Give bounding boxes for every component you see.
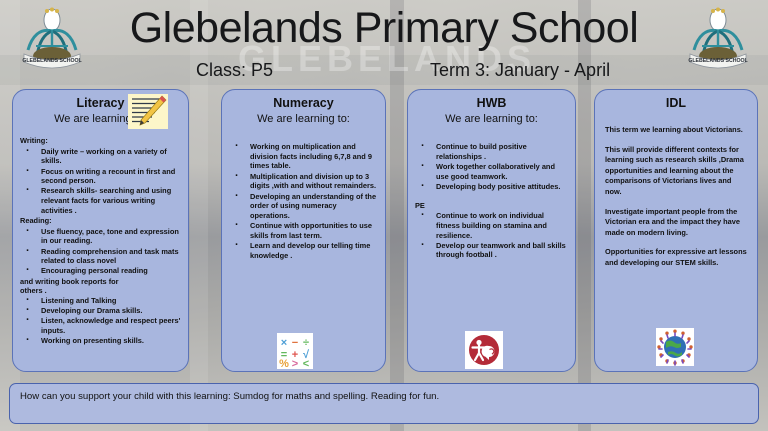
list-item: Multiplication and division up to 3 digi… — [229, 172, 378, 191]
list-item: Working on presenting skills. — [20, 336, 181, 346]
term-label: Term 3: January - April — [430, 60, 610, 81]
page-title: Glebelands Primary School — [0, 2, 768, 54]
list-item: Continue with opportunities to use skill… — [229, 221, 378, 240]
svg-text:>: > — [292, 358, 298, 369]
literacy-writing-list: Daily write – working on a variety of sk… — [20, 147, 181, 216]
list-item: Focus on writing a recount in first and … — [20, 167, 181, 186]
hwb-pe-heading: PE — [415, 201, 568, 211]
list-item: Listening and Talking — [20, 296, 181, 306]
literacy-reading-heading: Reading: — [20, 216, 181, 226]
support-footer-text: How can you support your child with this… — [20, 390, 748, 403]
list-item: Develop our teamwork and ball skills thr… — [415, 241, 568, 260]
list-item: Developing an understanding of the order… — [229, 192, 378, 221]
panel-hwb: HWB We are learning to: Continue to buil… — [407, 89, 576, 372]
panel-literacy: Literacy We are learning to: Writing: Da… — [12, 89, 189, 372]
list-item: Developing body positive attitudes. — [415, 182, 568, 192]
list-item: Learn and develop our telling time knowl… — [229, 241, 378, 260]
literacy-continuation-line: others . — [20, 286, 181, 296]
panel-subtitle-numeracy: We are learning to: — [229, 112, 378, 126]
idl-paragraph: Investigate important people from the Vi… — [605, 207, 747, 239]
list-item: Work together collaboratively and use go… — [415, 162, 568, 181]
list-item: Listen, acknowledge and respect peers' i… — [20, 316, 181, 335]
globe-people-icon — [656, 328, 694, 366]
list-item: Continue to build positive relationships… — [415, 142, 568, 161]
literacy-talking-list: Listening and Talking Developing our Dra… — [20, 296, 181, 346]
class-label: Class: P5 — [196, 60, 273, 81]
list-item: Reading comprehension and task mats rela… — [20, 247, 181, 266]
panel-subtitle-hwb: We are learning to: — [415, 112, 568, 126]
list-item: Encouraging personal reading — [20, 266, 181, 276]
literacy-reading-list: Use fluency, pace, tone and expression i… — [20, 227, 181, 277]
idl-paragraph: Opportunities for expressive art lessons… — [605, 247, 747, 268]
list-item: Continue to work on individual fitness b… — [415, 211, 568, 240]
list-item: Use fluency, pace, tone and expression i… — [20, 227, 181, 246]
idl-paragraph: This will provide different contexts for… — [605, 145, 747, 198]
literacy-writing-heading: Writing: — [20, 136, 181, 146]
list-item: Developing our Drama skills. — [20, 306, 181, 316]
math-symbols-icon: × − ÷ = + √ % > < — [277, 333, 313, 369]
hwb-list: Continue to build positive relationships… — [415, 142, 568, 192]
list-item: Daily write – working on a variety of sk… — [20, 147, 181, 166]
support-footer-panel: How can you support your child with this… — [9, 383, 759, 424]
panel-body-numeracy: Working on multiplication and division f… — [229, 142, 378, 260]
svg-text:%: % — [279, 358, 289, 369]
panel-numeracy: Numeracy We are learning to: Working on … — [221, 89, 386, 372]
poster-root: GLEBELANDS GLEBELANDS SCHOOL — [0, 0, 768, 431]
svg-text:÷: ÷ — [303, 337, 309, 349]
list-item: Research skills- searching and using rel… — [20, 186, 181, 215]
idl-paragraph: This term we learning about Victorians. — [605, 125, 747, 136]
list-item: Working on multiplication and division f… — [229, 142, 378, 171]
panel-body-idl: This term we learning about Victorians. … — [602, 125, 750, 269]
numeracy-list: Working on multiplication and division f… — [229, 142, 378, 260]
panel-title-numeracy: Numeracy — [229, 96, 378, 111]
svg-text:×: × — [281, 337, 287, 349]
svg-text:−: − — [292, 337, 298, 349]
panel-body-hwb: Continue to build positive relationships… — [415, 142, 568, 260]
hwb-pe-list: Continue to work on individual fitness b… — [415, 211, 568, 260]
header-subline: Class: P5 Term 3: January - April — [0, 60, 768, 82]
panel-title-idl: IDL — [602, 96, 750, 111]
svg-text:<: < — [303, 358, 309, 369]
health-wellbeing-icon — [465, 331, 503, 369]
panel-body-literacy: Writing: Daily write – working on a vari… — [20, 136, 181, 346]
pencil-notepad-icon — [128, 94, 168, 129]
literacy-continuation-line: and writing book reports for — [20, 277, 181, 287]
panel-title-hwb: HWB — [415, 96, 568, 111]
